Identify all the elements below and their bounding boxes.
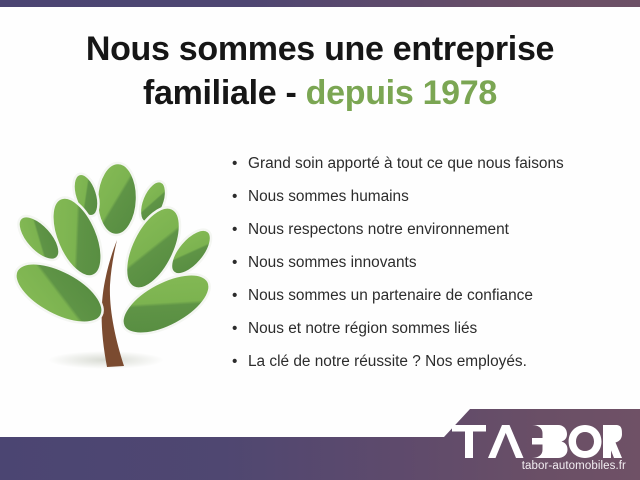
headline-accent-since-1978: depuis 1978: [306, 74, 497, 112]
bullet-marker-icon: •: [232, 150, 237, 178]
bullet-marker-icon: •: [232, 216, 237, 244]
list-item-label: Grand soin apporté à tout ce que nous fa…: [248, 155, 564, 172]
tree-leaves: [14, 162, 216, 346]
top-accent-bar: [0, 0, 640, 7]
list-item: •Nous et notre région sommes liés: [231, 315, 631, 348]
headline-line-1: Nous sommes une entreprise: [0, 27, 640, 72]
bullet-marker-icon: •: [232, 315, 237, 343]
bullet-marker-icon: •: [232, 249, 237, 277]
list-item-label: Nous sommes innovants: [248, 254, 417, 271]
list-item: •Grand soin apporté à tout ce que nous f…: [231, 150, 631, 183]
list-item: •Nous sommes un partenaire de confiance: [231, 282, 631, 315]
footer-shape: [0, 400, 640, 480]
list-item-label: La clé de notre réussite ? Nos employés.: [248, 353, 527, 370]
bullet-marker-icon: •: [232, 282, 237, 310]
list-item: •La clé de notre réussite ? Nos employés…: [231, 348, 631, 381]
tree-illustration: [14, 152, 216, 384]
tree-icon: [14, 152, 216, 384]
list-item: •Nous sommes humains: [231, 183, 631, 216]
list-item-label: Nous respectons notre environnement: [248, 221, 509, 238]
headline-line-2: familiale - depuis 1978: [0, 71, 640, 116]
slide-canvas: Nous sommes une entreprise familiale - d…: [0, 0, 640, 480]
tree-trunk: [102, 240, 124, 367]
bullet-marker-icon: •: [232, 183, 237, 211]
list-item-label: Nous sommes un partenaire de confiance: [248, 287, 533, 304]
tree-leaf: [96, 162, 138, 235]
list-item: •Nous sommes innovants: [231, 249, 631, 282]
headline-line-2-main: familiale -: [143, 74, 306, 112]
bullet-marker-icon: •: [232, 348, 237, 376]
list-item-label: Nous sommes humains: [248, 188, 409, 205]
page-title: Nous sommes une entreprise familiale - d…: [0, 27, 640, 116]
list-item-label: Nous et notre région sommes liés: [248, 320, 477, 337]
benefits-list: •Grand soin apporté à tout ce que nous f…: [231, 150, 631, 381]
list-item: •Nous respectons notre environnement: [231, 216, 631, 249]
footer-bar: tabor-automobiles.fr: [0, 400, 640, 480]
